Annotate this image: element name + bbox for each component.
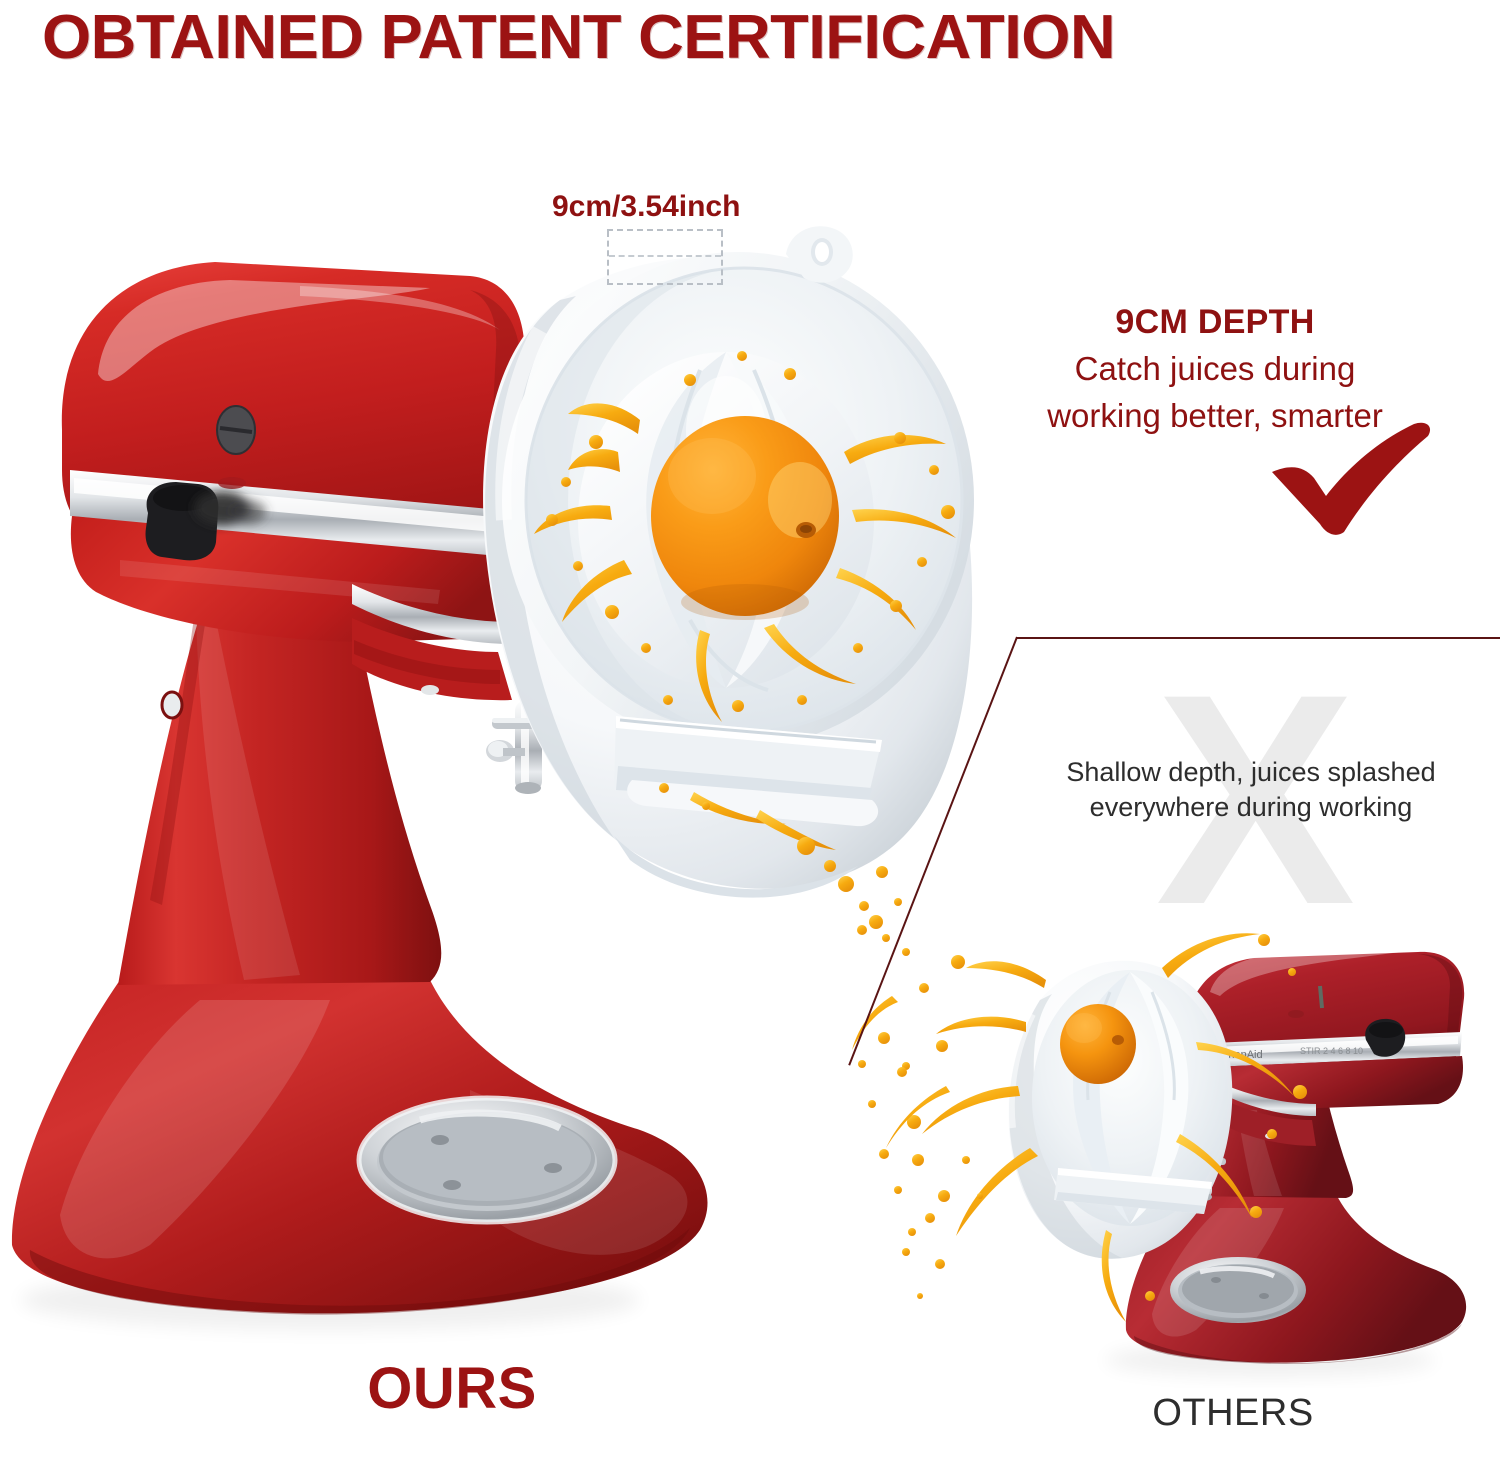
dimension-bracket [607,231,723,285]
bowl-lock-plate [359,1098,615,1222]
ours-label: OURS [342,1355,562,1422]
others-callout-line2: everywhere during working [1020,790,1482,825]
others-juicer-attachment [1008,961,1232,1259]
ours-callout: 9CM DEPTH Catch juices during working be… [985,300,1445,438]
juice-splash-ours [534,351,956,722]
others-bowl-lock-plate [1170,1257,1306,1323]
juicer-bowl-outer [483,257,972,889]
reamer-cone [578,352,874,690]
others-orange-fruit [1060,1004,1136,1084]
mixer-head [62,262,527,700]
citrus-juicer-attachment [483,226,974,897]
ours-callout-title: 9CM DEPTH [985,300,1445,344]
others-label: OTHERS [1133,1392,1333,1435]
ours-callout-line1: Catch juices during [985,348,1445,391]
others-mixer-head: KitchenAid STIR 2 4 6 8 10 [1185,952,1464,1146]
others-attachment-shaft [1184,1146,1226,1201]
juice-drip-ours [659,783,890,942]
juice-chute [614,716,882,826]
attachment-lever [146,482,266,560]
attachment-shaft [486,700,565,794]
panel-divider-diagonal [848,637,1018,1066]
svg-text:STIR 2 4 6 8 10: STIR 2 4 6 8 10 [1300,1046,1363,1056]
svg-text:KitchenAid: KitchenAid [1210,1049,1263,1061]
head-chrome-band [70,470,522,560]
orange-fruit [651,416,839,620]
others-callout-line1: Shallow depth, juices splashed [1020,755,1482,790]
product-comparison-image: KitchenAid STIR 2 4 6 8 10 [0,0,1500,1460]
dimension-label: 9cm/3.54inch [552,190,740,224]
others-callout: Shallow depth, juices splashed everywher… [1020,755,1482,825]
ours-stand-mixer [12,226,974,1330]
mixer-base [12,980,708,1313]
page-title: OBTAINED PATENT CERTIFICATION [42,2,1327,73]
check-mark-icon [1268,420,1436,536]
mixer-column [118,600,441,985]
